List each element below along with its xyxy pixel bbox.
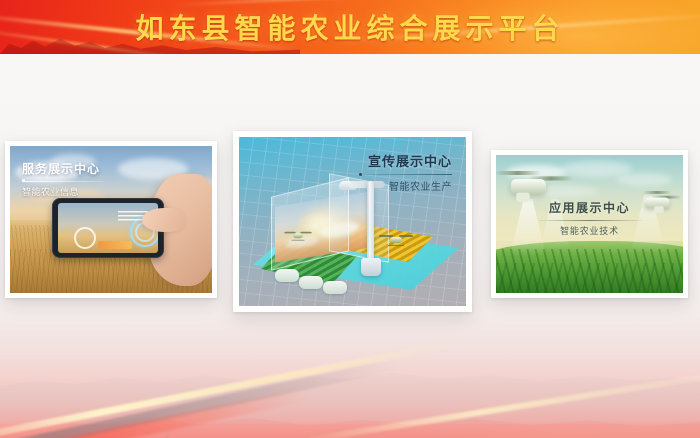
card-service-display-center[interactable]: 服务展示中心 智能农业信息	[5, 141, 217, 298]
background-light-ribbon-2	[0, 358, 400, 438]
cloud-icon	[616, 173, 672, 186]
card-application-display-center[interactable]: 应用展示中心 智能农业技术	[491, 150, 688, 298]
hay-bale-icon	[275, 269, 299, 282]
drone-spray-pod	[654, 206, 664, 213]
hud-status-bar	[98, 241, 132, 249]
drone-icon	[286, 230, 310, 240]
water-tank-icon	[361, 258, 381, 276]
platform-showcase-page: 如东县智能农业综合展示平台	[0, 0, 700, 438]
cloud-icon	[50, 154, 96, 170]
phone-screen	[58, 203, 158, 253]
card-promotion-display-center[interactable]: 宣传展示中心 智能农业生产	[233, 131, 472, 312]
crop-rows-texture-2	[496, 263, 683, 293]
drone-leg-right	[298, 237, 304, 240]
background-light-ribbon-3	[0, 387, 312, 438]
background-mountains-far	[0, 354, 700, 424]
street-lamp-pole	[367, 181, 374, 267]
background-warm-glow	[380, 424, 700, 438]
hay-bale-icon	[299, 276, 323, 289]
drone-leg-right	[396, 242, 404, 246]
drone-rotor-left	[496, 171, 541, 175]
drone-body	[511, 179, 546, 194]
drone-rotor-right	[399, 235, 413, 237]
drone-spray-pod	[516, 193, 530, 202]
page-title: 如东县智能农业综合展示平台	[0, 0, 700, 54]
thumb-illustration	[142, 208, 186, 232]
drone-icon	[381, 233, 411, 245]
card-service-image: 服务展示中心 智能农业信息	[10, 146, 212, 293]
card-promotion-image: 宣传展示中心 智能农业生产	[239, 137, 466, 306]
drone-leg-left	[388, 242, 396, 246]
hay-bale-icon	[323, 281, 347, 294]
drone-rotor-left	[643, 191, 672, 194]
header-banner: 如东县智能农业综合展示平台	[0, 0, 700, 54]
card-application-image: 应用展示中心 智能农业技术	[496, 155, 683, 293]
background-mountain-peaks	[120, 426, 250, 438]
hud-ring-left-icon	[74, 227, 96, 249]
